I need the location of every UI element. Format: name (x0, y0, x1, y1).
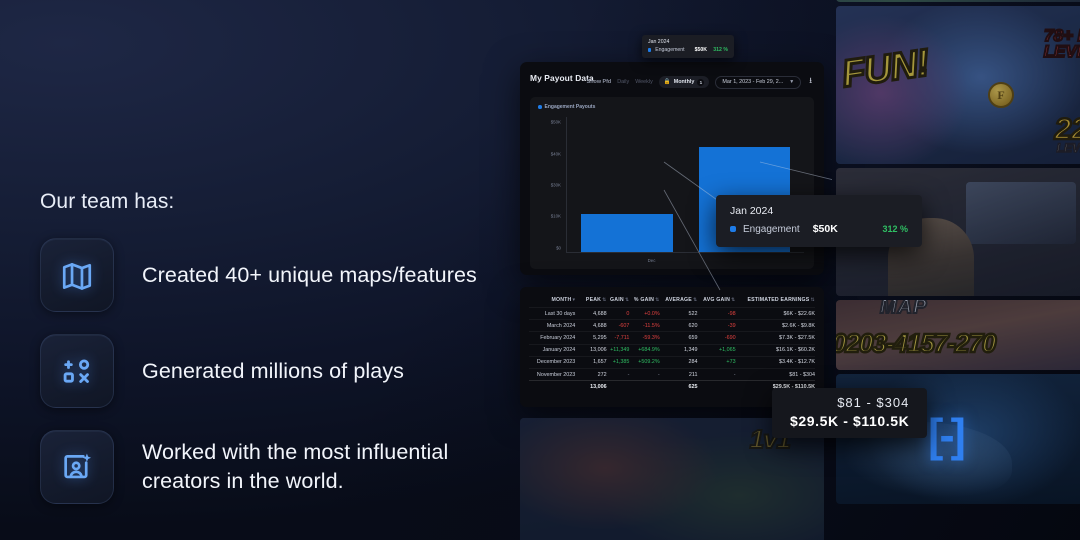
tooltip-color-swatch (648, 48, 651, 51)
cell-average: 284 (660, 356, 698, 368)
chart-legend[interactable]: Engagement Payouts (538, 104, 806, 110)
cell-avg-gain: +73 (698, 356, 736, 368)
cell-pct-gain: - (629, 368, 659, 380)
feature-label: Worked with the most influential creator… (142, 438, 512, 495)
cell-month: Last 30 days (529, 308, 582, 320)
tooltip-series-label: Engagement (655, 47, 684, 53)
date-range-picker[interactable]: Mar 1, 2023 - Feb 29, 2... ▼ (715, 76, 801, 89)
chart-tooltip-small: Jan 2024 Engagement $50K 312 % (642, 35, 734, 58)
cell-pct-gain: +509.2% (629, 356, 659, 368)
media-card-solos: SOLOS (836, 0, 1080, 2)
period-option-daily[interactable]: Daily (617, 79, 629, 85)
cell-avg-gain: +1,065 (698, 344, 736, 356)
photo-dim-overlay (836, 300, 1080, 370)
table-body: Last 30 days 4,688 0 +0.0% 522 -98 $6K -… (529, 308, 815, 393)
cell-earnings: $2.6K - $9.8K (736, 320, 815, 332)
photo-dim-overlay (836, 6, 1080, 164)
table-row[interactable]: March 2024 4,688 -607 -11.5% 620 -39 $2.… (529, 320, 815, 332)
cell-pct-gain (629, 381, 659, 393)
col-pct-gain[interactable]: % GAIN⇅ (629, 297, 659, 308)
col-gain[interactable]: GAIN⇅ (607, 297, 630, 308)
cell-earnings: $3.4K - $12.7K (736, 356, 815, 368)
col-month[interactable]: MONTH▾ (529, 297, 582, 308)
cell-avg-gain: - (698, 368, 736, 380)
cell-month: March 2024 (529, 320, 582, 332)
cell-peak: 4,688 (582, 308, 606, 320)
download-icon[interactable]: ⭳ (809, 75, 812, 89)
cell-average: 659 (660, 332, 698, 344)
cell-earnings: $81 - $304 (736, 368, 815, 380)
cell-pct-gain: +684.9% (629, 344, 659, 356)
feature-item: Created 40+ unique maps/features (40, 238, 520, 312)
eyebrow-heading: Our team has: (40, 190, 520, 214)
cell-gain: 0 (607, 308, 630, 320)
slide-root: Our team has: Created 40+ unique maps/fe… (0, 0, 1080, 540)
col-estimated-earnings[interactable]: ESTIMATED EARNINGS⇅ (736, 297, 815, 308)
cell-avg-gain: -98 (698, 308, 736, 320)
cell-gain: -607 (607, 320, 630, 332)
col-peak[interactable]: PEAK⇅ (582, 297, 606, 308)
cell-gain: -7,711 (607, 332, 630, 344)
tooltip-series-label: Engagement (743, 224, 800, 235)
creator-photo-icon (60, 450, 94, 484)
bracket-logo: [-] (928, 408, 962, 462)
tooltip-value: $50K (813, 223, 838, 235)
cell-month: November 2023 (529, 368, 582, 380)
cell-earnings: $16.1K - $60.2K (736, 344, 815, 356)
media-card-fun: FUN! F 78+ LLEVE 22 LEVE (836, 6, 1080, 164)
cell-pct-gain: -11.5% (629, 320, 659, 332)
cell-gain (607, 381, 630, 393)
legend-color-swatch (538, 105, 542, 109)
media-card-map-code: MAP 0203-4157-270 (836, 300, 1080, 370)
cell-gain: - (607, 368, 630, 380)
feature-label: Created 40+ unique maps/features (142, 261, 477, 290)
cell-pct-gain: +0.0% (629, 308, 659, 320)
feature-label: Generated millions of plays (142, 357, 404, 386)
period-selected-label: Monthly (674, 79, 695, 85)
chevron-down-icon: ▼ (789, 79, 794, 85)
cell-average: 1,349 (660, 344, 698, 356)
tooltip-value: $50K (695, 47, 707, 53)
cell-month: December 2023 (529, 356, 582, 368)
cell-average: 211 (660, 368, 698, 380)
period-selector-monthly[interactable]: 🔒 Monthly 1 (659, 76, 710, 88)
tooltip-title: Jan 2024 (730, 205, 908, 217)
y-tick: $30K (551, 183, 561, 188)
earnings-line-1: $81 - $304 (790, 395, 909, 410)
y-tick: $0 (556, 245, 561, 250)
legend-label: Engagement Payouts (545, 104, 596, 110)
cell-avg-gain: -39 (698, 320, 736, 332)
tooltip-change: 312 % (713, 47, 728, 53)
tooltip-title: Jan 2024 (648, 39, 728, 45)
table-row[interactable]: November 2023 272 - - 211 - $81 - $304 (529, 368, 815, 380)
table-row[interactable]: Last 30 days 4,688 0 +0.0% 522 -98 $6K -… (529, 308, 815, 320)
tooltip-color-swatch (730, 226, 736, 232)
table-header-row: MONTH▾ PEAK⇅ GAIN⇅ % GAIN⇅ AVERAGE⇅ AVG … (529, 297, 815, 308)
cell-month: February 2024 (529, 332, 582, 344)
y-tick: $10K (551, 214, 561, 219)
tooltip-change: 312 % (882, 224, 908, 234)
cell-earnings: $6K - $22.6K (736, 308, 815, 320)
cell-average: 522 (660, 308, 698, 320)
cell-earnings: $7.3K - $27.5K (736, 332, 815, 344)
cell-peak: 13,006 (582, 381, 606, 393)
map-icon (60, 258, 94, 292)
col-avg-gain[interactable]: AVG GAIN⇅ (698, 297, 736, 308)
y-tick: $50K (551, 120, 561, 125)
x-tick: Dec (648, 258, 656, 263)
cell-gain: +11,349 (607, 344, 630, 356)
cell-peak: 4,688 (582, 320, 606, 332)
table-row[interactable]: February 2024 5,295 -7,711 -59.3% 659 -6… (529, 332, 815, 344)
left-content-column: Our team has: Created 40+ unique maps/fe… (40, 190, 520, 526)
y-tick: $40K (551, 151, 561, 156)
earnings-line-2: $29.5K - $110.5K (790, 413, 909, 429)
earnings-range-tooltip: $81 - $304 $29.5K - $110.5K (772, 388, 927, 438)
tooltip-row: Engagement $50K 312 % (648, 47, 728, 53)
col-average[interactable]: AVERAGE⇅ (660, 297, 698, 308)
feature-item: Generated millions of plays (40, 334, 520, 408)
table-row[interactable]: December 2023 1,657 +1,385 +509.2% 284 +… (529, 356, 815, 368)
cell-pct-gain: -59.3% (629, 332, 659, 344)
feature-icon-tile (40, 430, 114, 504)
chart-tooltip-magnified: Jan 2024 Engagement $50K 312 % (716, 195, 922, 247)
table-row[interactable]: January 2024 13,006 +11,349 +684.9% 1,34… (529, 344, 815, 356)
cell-peak: 272 (582, 368, 606, 380)
lock-icon: 🔒 (664, 79, 671, 85)
game-controls-icon (60, 354, 94, 388)
payout-table: MONTH▾ PEAK⇅ GAIN⇅ % GAIN⇅ AVERAGE⇅ AVG … (529, 297, 815, 392)
feature-item: Worked with the most influential creator… (40, 430, 520, 504)
cell-average: 625 (660, 381, 698, 393)
cell-avg-gain: -690 (698, 332, 736, 344)
cell-peak: 5,295 (582, 332, 606, 344)
cell-average: 620 (660, 320, 698, 332)
feature-icon-tile (40, 238, 114, 312)
cell-peak: 1,657 (582, 356, 606, 368)
cell-month: January 2024 (529, 344, 582, 356)
tooltip-row: Engagement $50K 312 % (730, 223, 908, 235)
cell-avg-gain (698, 381, 736, 393)
cell-peak: 13,006 (582, 344, 606, 356)
cell-gain: +1,385 (607, 356, 630, 368)
chart-bar[interactable] (581, 214, 673, 252)
period-option-weekly[interactable]: Weekly (635, 79, 653, 85)
feature-icon-tile (40, 334, 114, 408)
y-axis: $50K $40K $30K $10K $0 (538, 117, 564, 253)
date-range-label: Mar 1, 2023 - Feb 29, 2... (722, 79, 783, 85)
show-label: Show Pfd (587, 79, 612, 85)
cell-month (529, 381, 582, 393)
period-badge: 1 (697, 79, 704, 86)
